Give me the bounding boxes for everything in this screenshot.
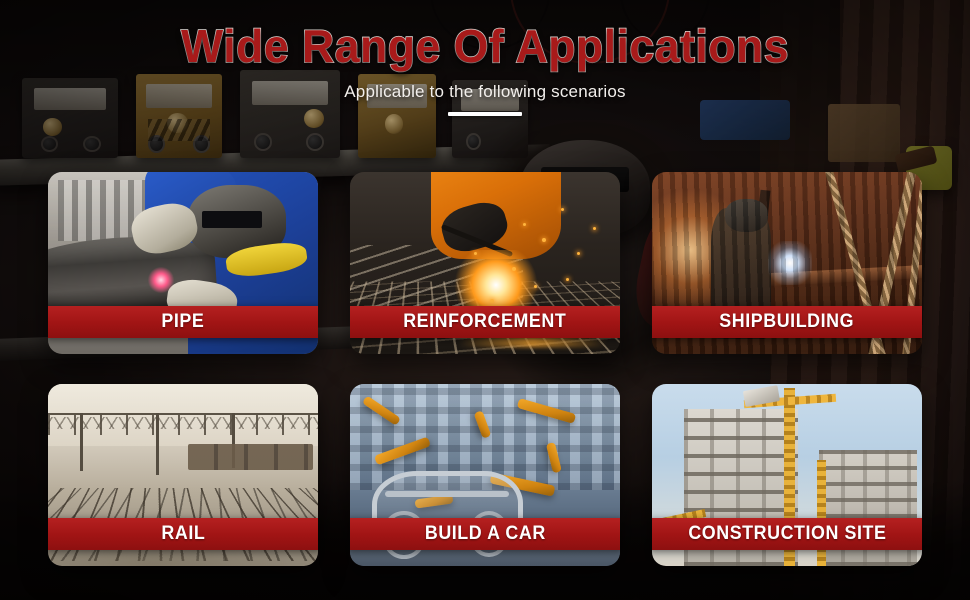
- card-label-band-build-a-car: BUILD A CAR: [350, 518, 620, 550]
- banner-header: Wide Range Of Applications Applicable to…: [0, 22, 970, 116]
- card-label-band-rail: RAIL: [48, 518, 318, 550]
- rebar-spark: [593, 227, 596, 230]
- rebar-spark: [577, 252, 580, 255]
- construction-crane-mast: [817, 460, 826, 566]
- page-title: Wide Range Of Applications: [15, 22, 956, 72]
- application-card-grid: PIPE: [48, 172, 922, 566]
- construction-crane-jib: [652, 384, 743, 389]
- rail-freight-wagons: [188, 444, 312, 469]
- ship-welding-helmet: [725, 199, 768, 232]
- application-card-shipbuilding[interactable]: SHIPBUILDING: [652, 172, 922, 354]
- ship-hull-pipe: [722, 265, 922, 289]
- rail-pole: [156, 413, 159, 475]
- card-label-build-a-car: BUILD A CAR: [425, 523, 546, 545]
- pipe-weld-arc: [148, 267, 174, 293]
- ship-sunlight: [652, 190, 750, 310]
- rebar-spark: [561, 208, 564, 211]
- rebar-spark: [566, 278, 569, 281]
- header-divider: [448, 112, 522, 116]
- card-label-band-construction-site: CONSTRUCTION SITE: [652, 518, 922, 550]
- card-label-band-shipbuilding: SHIPBUILDING: [652, 306, 922, 338]
- card-label-band-pipe: PIPE: [48, 306, 318, 338]
- rebar-spark: [523, 223, 526, 226]
- application-card-reinforcement[interactable]: REINFORCEMENT: [350, 172, 620, 354]
- ship-steel-beam: [749, 190, 770, 296]
- rebar-glow-line: [458, 337, 607, 347]
- card-label-reinforcement: REINFORCEMENT: [403, 311, 566, 333]
- application-card-build-a-car[interactable]: BUILD A CAR: [350, 384, 620, 566]
- application-card-rail[interactable]: RAIL: [48, 384, 318, 566]
- card-label-pipe: PIPE: [162, 311, 205, 333]
- rebar-spark: [512, 267, 516, 271]
- card-label-construction-site: CONSTRUCTION SITE: [688, 523, 886, 545]
- rail-catenary-gantry: [48, 413, 318, 435]
- rebar-spark: [534, 285, 537, 288]
- rail-pole: [80, 413, 83, 471]
- application-card-construction-site[interactable]: CONSTRUCTION SITE: [652, 384, 922, 566]
- page-subtitle: Applicable to the following scenarios: [0, 82, 970, 102]
- card-label-shipbuilding: SHIPBUILDING: [720, 311, 855, 333]
- applications-banner: Wide Range Of Applications Applicable to…: [0, 0, 970, 600]
- application-card-pipe[interactable]: PIPE: [48, 172, 318, 354]
- card-label-rail: RAIL: [161, 523, 205, 545]
- rebar-spark: [542, 238, 546, 242]
- ship-weld-arc: [768, 241, 812, 285]
- card-label-band-reinforcement: REINFORCEMENT: [350, 306, 620, 338]
